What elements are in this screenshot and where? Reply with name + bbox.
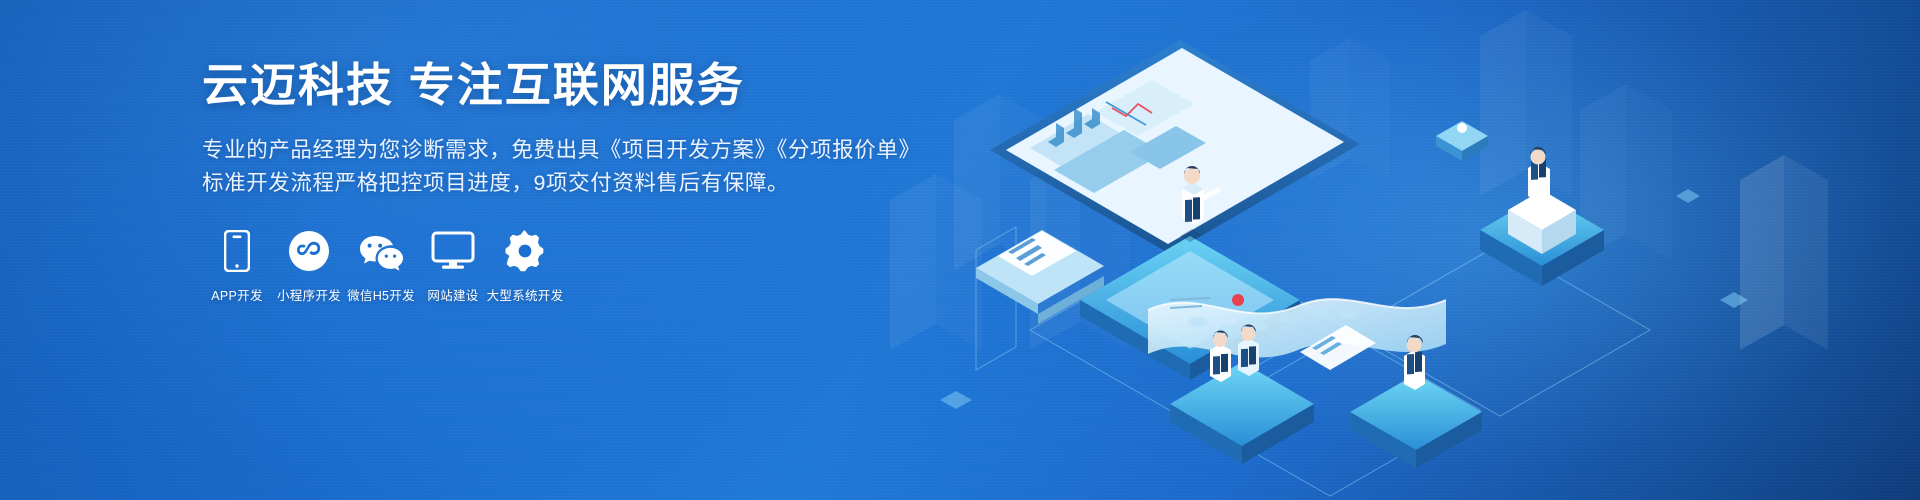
hero-banner: 云迈科技 专注互联网服务 专业的产品经理为您诊断需求，免费出具《项目开发方案》《… — [0, 0, 1920, 500]
service-label: 小程序开发 — [277, 285, 341, 304]
monitor-icon — [431, 228, 475, 274]
service-item-app[interactable]: APP开发 — [202, 228, 272, 304]
hero-illustration — [880, 0, 1920, 500]
service-icon-row: APP开发 小程序开发 微信 — [202, 228, 560, 304]
hero-subtitle: 专业的产品经理为您诊断需求，免费出具《项目开发方案》《分项报价单》 标准开发流程… — [202, 134, 902, 200]
service-label: APP开发 — [211, 285, 263, 304]
mobile-phone-icon — [224, 228, 250, 274]
service-item-wechat[interactable]: 微信H5开发 — [346, 228, 416, 304]
gear-icon — [504, 228, 546, 274]
service-item-miniprogram[interactable]: 小程序开发 — [274, 228, 344, 304]
service-item-system[interactable]: 大型系统开发 — [490, 228, 560, 304]
mini-program-icon — [288, 228, 330, 274]
service-label: 大型系统开发 — [487, 285, 564, 304]
page-title: 云迈科技 专注互联网服务 — [202, 62, 902, 108]
service-label: 网站建设 — [427, 285, 478, 304]
subtitle-line-1: 专业的产品经理为您诊断需求，免费出具《项目开发方案》《分项报价单》 — [202, 134, 902, 167]
service-label: 微信H5开发 — [347, 285, 415, 304]
hero-copy: 云迈科技 专注互联网服务 专业的产品经理为您诊断需求，免费出具《项目开发方案》《… — [202, 62, 902, 200]
subtitle-line-2: 标准开发流程严格把控项目进度，9项交付资料售后有保障。 — [202, 167, 902, 200]
wechat-icon — [357, 228, 405, 274]
service-item-website[interactable]: 网站建设 — [418, 228, 488, 304]
